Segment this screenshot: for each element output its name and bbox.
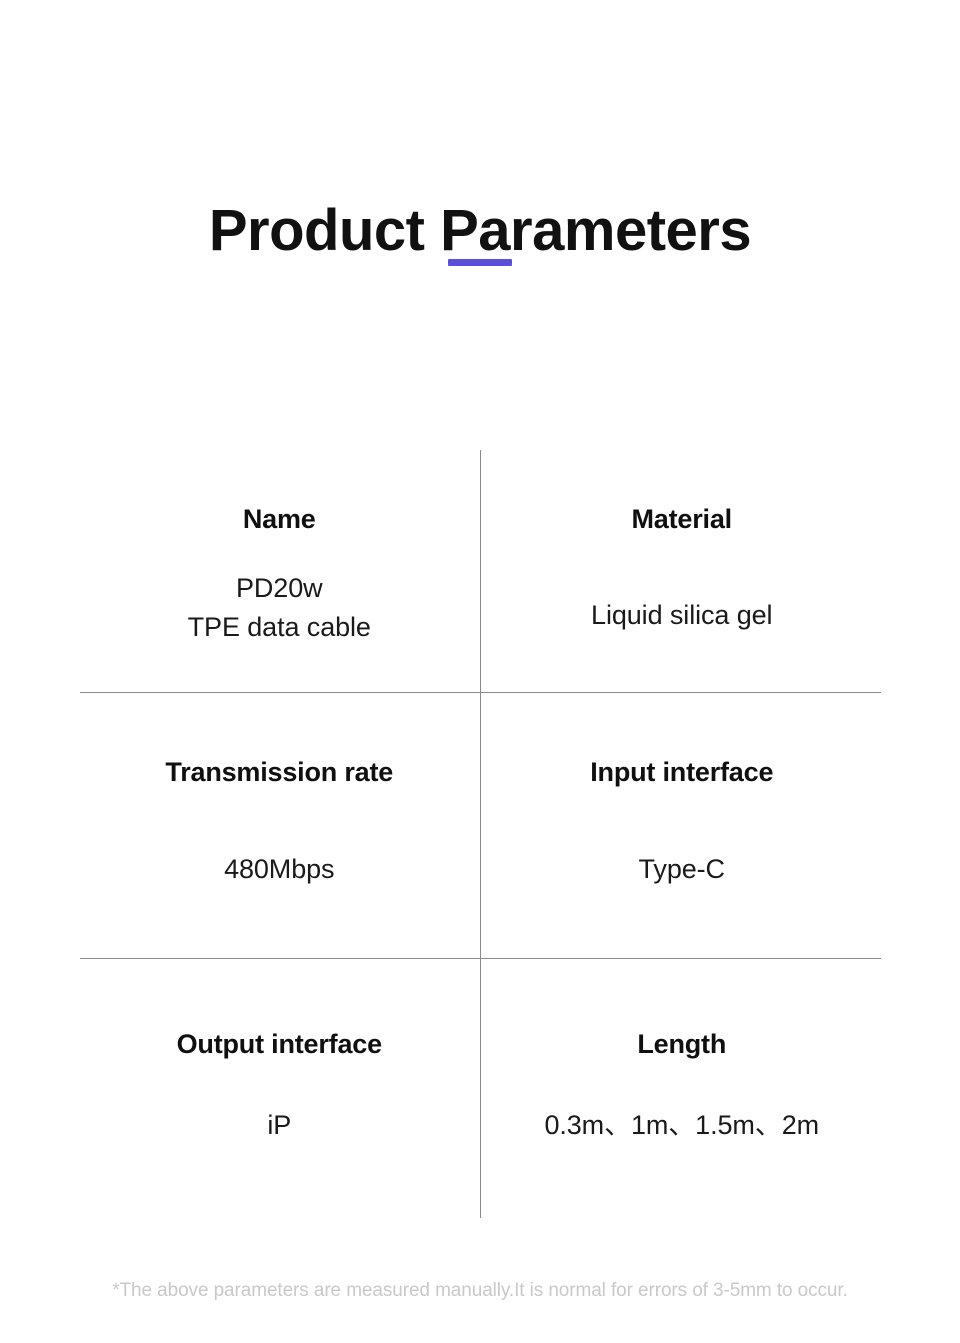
spec-cell-input-interface: Input interface Type-C — [481, 692, 882, 958]
spec-value: Type-C — [639, 850, 725, 889]
column-divider — [480, 450, 481, 1218]
spec-value: Liquid silica gel — [591, 596, 772, 635]
spec-cell-length: Length 0.3m、1m、1.5m、2m — [481, 958, 882, 1218]
spec-label: Transmission rate — [165, 756, 393, 790]
spec-label: Input interface — [590, 756, 773, 790]
spec-label: Material — [632, 503, 732, 537]
product-parameters-page: Product Parameters Name PD20w TPE data c… — [0, 0, 960, 1343]
spec-cell-material: Material Liquid silica gel — [481, 450, 882, 692]
spec-label: Name — [243, 503, 316, 537]
spec-label: Output interface — [177, 1028, 382, 1062]
specification-table: Name PD20w TPE data cable Material Liqui… — [80, 450, 881, 1218]
spec-label: Length — [637, 1028, 726, 1062]
spec-cell-transmission-rate: Transmission rate 480Mbps — [80, 692, 481, 958]
spec-cell-name: Name PD20w TPE data cable — [80, 450, 481, 692]
spec-value: PD20w TPE data cable — [188, 569, 371, 647]
spec-value: 480Mbps — [224, 850, 334, 889]
page-title: Product Parameters — [0, 199, 960, 263]
spec-value: iP — [267, 1106, 291, 1145]
spec-value: 0.3m、1m、1.5m、2m — [544, 1106, 819, 1145]
spec-cell-output-interface: Output interface iP — [80, 958, 481, 1218]
title-accent-bar — [448, 259, 512, 266]
footnote-disclaimer: *The above parameters are measured manua… — [0, 1280, 960, 1302]
